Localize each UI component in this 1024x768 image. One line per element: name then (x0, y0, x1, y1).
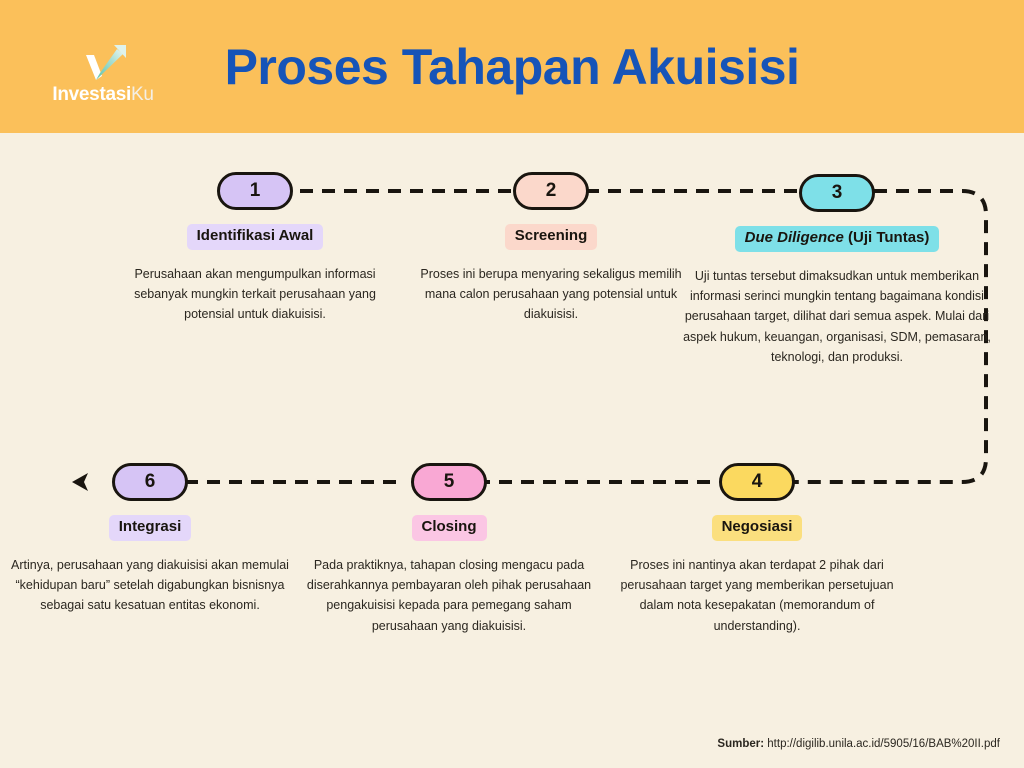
source-label: Sumber: (717, 738, 764, 750)
source-citation: Sumber: http://digilib.unila.ac.id/5905/… (717, 738, 1000, 750)
step-description: Perusahaan akan mengumpulkan informasi s… (132, 264, 378, 325)
step-1[interactable]: 1 Identifikasi Awal Perusahaan akan meng… (110, 172, 378, 325)
step-description: Pada praktiknya, tahapan closing mengacu… (304, 555, 594, 636)
step-label-text: (Uji Tuntas) (844, 229, 930, 246)
step-5[interactable]: 5 Closing Pada praktiknya, tahapan closi… (304, 463, 594, 636)
step-description: Proses ini nantinya akan terdapat 2 piha… (612, 555, 902, 636)
step-number-pill[interactable]: 3 (799, 174, 875, 212)
page-title: Proses Tahapan Akuisisi (0, 0, 1024, 133)
step-description: Uji tuntas tersebut dimaksudkan untuk me… (672, 266, 1002, 367)
step-number-pill[interactable]: 4 (719, 463, 795, 501)
step-label-badge: Screening (505, 224, 598, 250)
step-label-badge: Closing (412, 515, 487, 541)
step-4[interactable]: 4 Negosiasi Proses ini nantinya akan ter… (612, 463, 902, 636)
step-label-text: Negosiasi (722, 518, 793, 535)
page-header: InvestasiKu Proses Tahapan Akuisisi (0, 0, 1024, 133)
step-label-badge: Identifikasi Awal (187, 224, 324, 250)
step-label-text: Closing (422, 518, 477, 535)
step-label-badge: Negosiasi (712, 515, 803, 541)
step-number-pill[interactable]: 1 (217, 172, 293, 210)
step-description: Artinya, perusahaan yang diakuisisi akan… (0, 555, 300, 616)
step-label-text: Identifikasi Awal (197, 227, 314, 244)
step-description: Proses ini berupa menyaring sekaligus me… (420, 264, 682, 325)
step-2[interactable]: 2 Screening Proses ini berupa menyaring … (420, 172, 682, 325)
step-label-badge: Integrasi (109, 515, 192, 541)
step-number-pill[interactable]: 6 (112, 463, 188, 501)
step-3[interactable]: 3 Due Diligence (Uji Tuntas) Uji tuntas … (672, 174, 1002, 367)
step-number-pill[interactable]: 5 (411, 463, 487, 501)
step-label-badge: Due Diligence (Uji Tuntas) (735, 226, 940, 252)
step-6[interactable]: 6 Integrasi Artinya, perusahaan yang dia… (0, 463, 300, 616)
step-label-text: Integrasi (119, 518, 182, 535)
source-url[interactable]: http://digilib.unila.ac.id/5905/16/BAB%2… (767, 738, 1000, 750)
step-label-text: Screening (515, 227, 588, 244)
step-number-pill[interactable]: 2 (513, 172, 589, 210)
step-label-italic: Due Diligence (745, 229, 844, 246)
